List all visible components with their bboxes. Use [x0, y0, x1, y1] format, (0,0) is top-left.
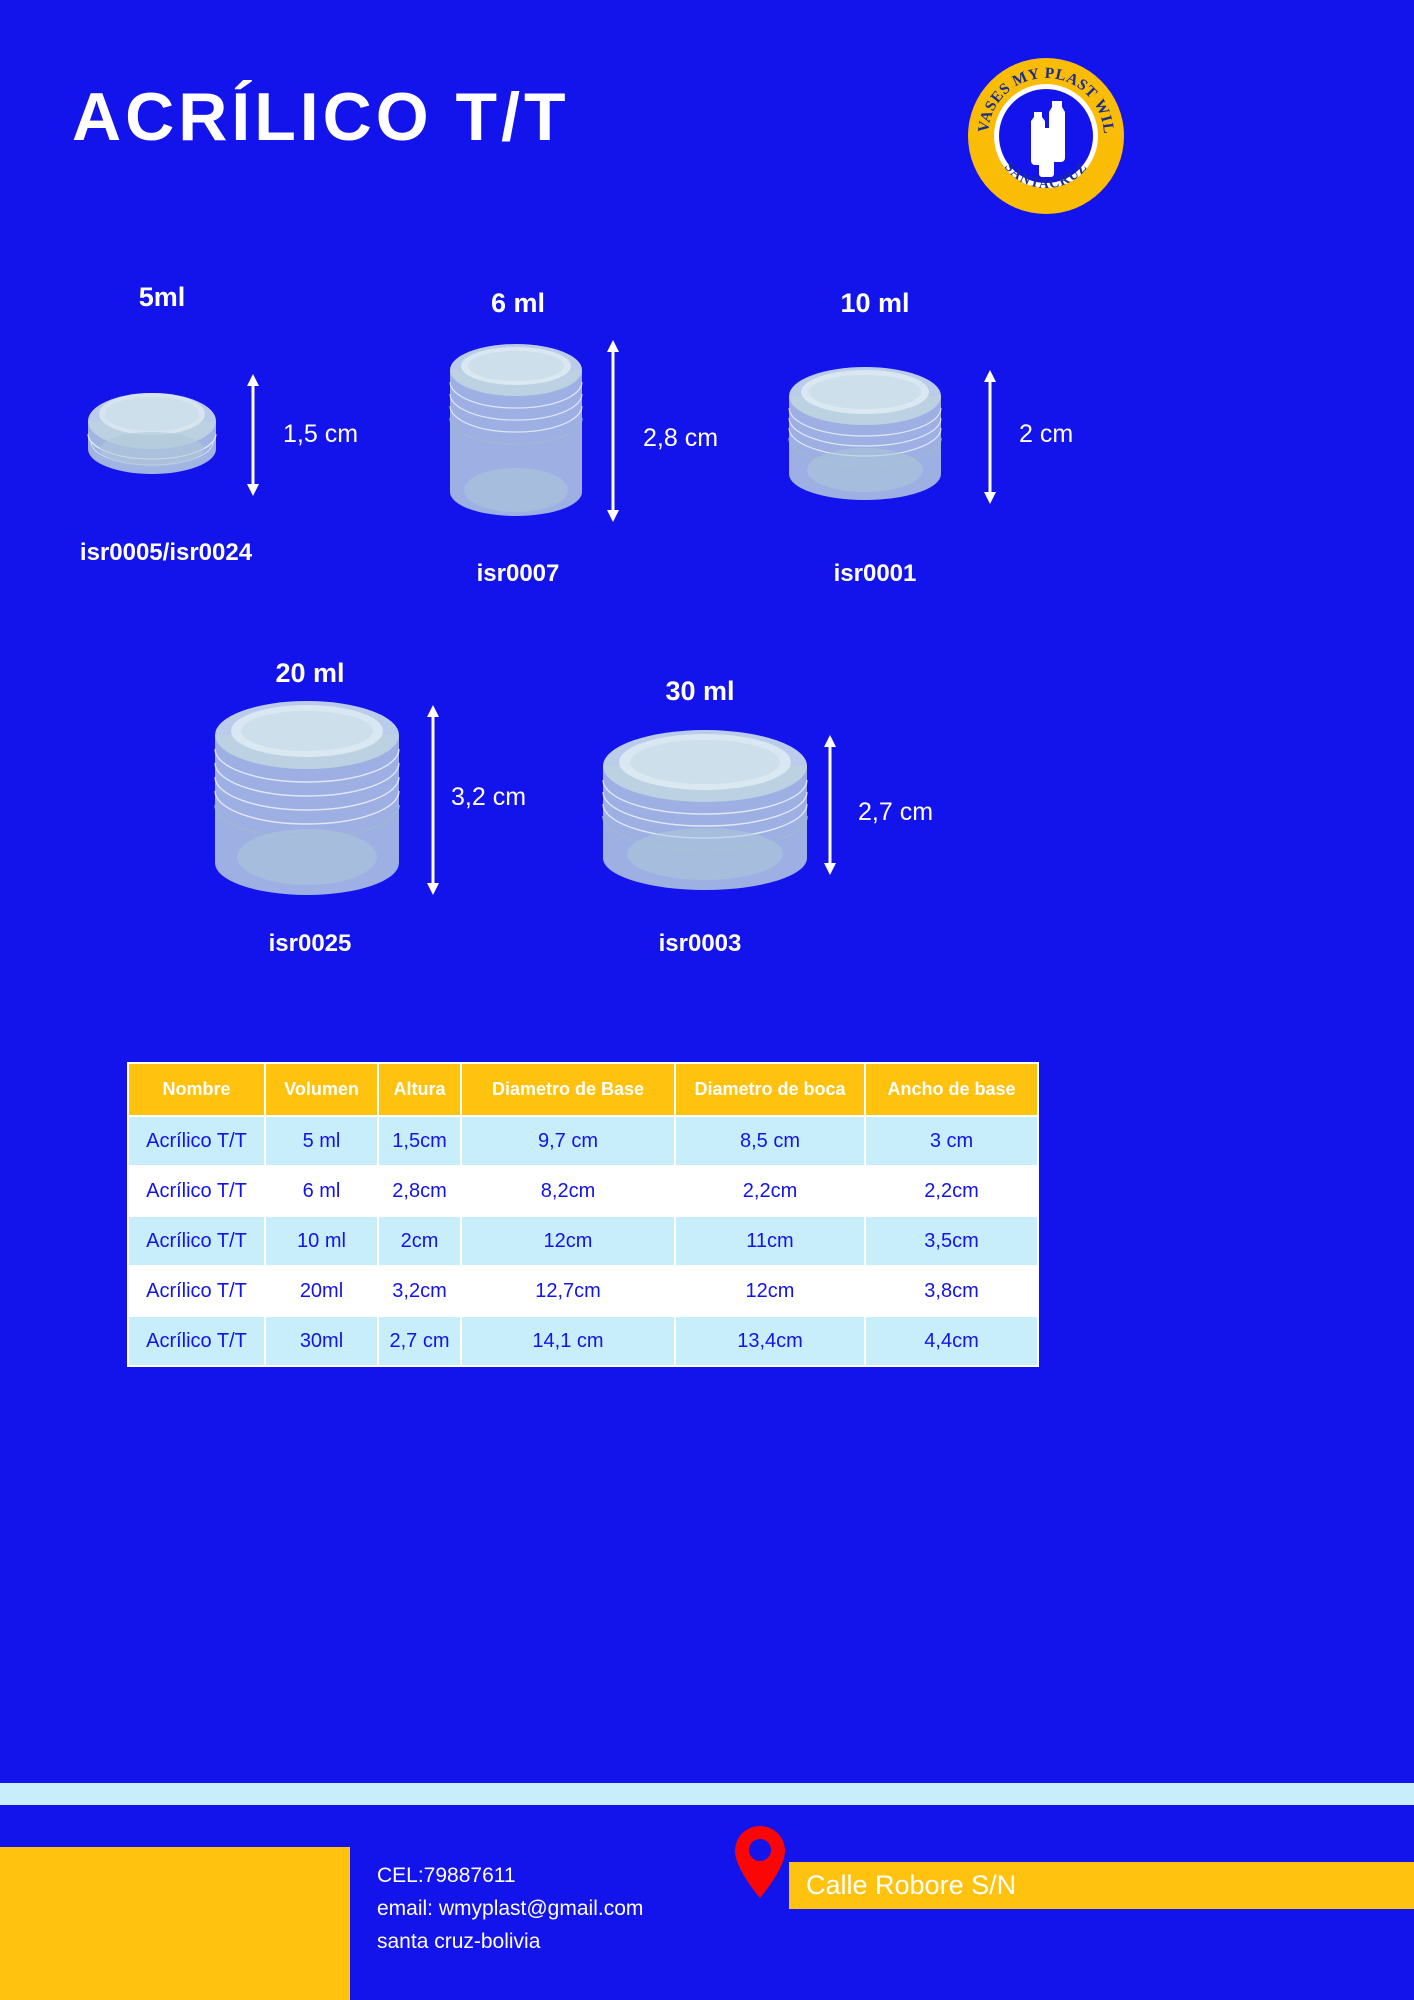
height-arrow-6ml — [605, 340, 621, 522]
product-height-label: 2 cm — [1019, 420, 1073, 449]
contact-email: email: wmyplast@gmail.com — [377, 1892, 643, 1925]
cell-ancho-base: 3 cm — [865, 1116, 1038, 1166]
cell-altura: 3,2cm — [378, 1266, 461, 1316]
height-arrow-30ml — [822, 735, 838, 875]
cell-ancho-base: 4,4cm — [865, 1316, 1038, 1366]
cell-nombre: Acrílico T/T — [128, 1216, 265, 1266]
cell-diametro-boca: 12cm — [675, 1266, 865, 1316]
contact-phone: CEL:79887611 — [377, 1859, 643, 1892]
table-row: Acrílico T/T 20ml 3,2cm 12,7cm 12cm 3,8c… — [128, 1266, 1038, 1316]
contact-location: santa cruz-bolivia — [377, 1925, 643, 1958]
table-header-volumen: Volumen — [265, 1063, 378, 1116]
table-row: Acrílico T/T 5 ml 1,5cm 9,7 cm 8,5 cm 3 … — [128, 1116, 1038, 1166]
product-volume-label: 10 ml — [795, 288, 955, 319]
cell-nombre: Acrílico T/T — [128, 1116, 265, 1166]
cell-nombre: Acrílico T/T — [128, 1266, 265, 1316]
company-logo-icon: ENVASES MY PLAST WILLY SANTACRUZ — [968, 58, 1124, 214]
height-arrow-20ml — [425, 705, 441, 895]
cell-altura: 2,8cm — [378, 1166, 461, 1216]
page-title: ACRÍLICO T/T — [72, 78, 570, 156]
jar-image-30ml — [598, 728, 813, 900]
product-height-label: 2,7 cm — [858, 798, 933, 827]
specification-table: Nombre Volumen Altura Diametro de Base D… — [127, 1062, 1039, 1367]
product-height-label: 1,5 cm — [283, 420, 358, 449]
cell-nombre: Acrílico T/T — [128, 1316, 265, 1366]
cell-diametro-base: 14,1 cm — [461, 1316, 675, 1366]
product-code-label: isr0025 — [230, 930, 390, 958]
contact-info: CEL:79887611 email: wmyplast@gmail.com s… — [377, 1859, 643, 1958]
cell-diametro-boca: 2,2cm — [675, 1166, 865, 1216]
cell-volumen: 10 ml — [265, 1216, 378, 1266]
cell-nombre: Acrílico T/T — [128, 1166, 265, 1216]
cell-ancho-base: 2,2cm — [865, 1166, 1038, 1216]
height-arrow-10ml — [982, 370, 998, 504]
cell-diametro-base: 9,7 cm — [461, 1116, 675, 1166]
product-volume-label: 6 ml — [438, 288, 598, 319]
product-height-label: 3,2 cm — [451, 783, 526, 812]
table-header-altura: Altura — [378, 1063, 461, 1116]
address-text: Calle Robore S/N — [806, 1870, 1016, 1901]
cell-altura: 2cm — [378, 1216, 461, 1266]
cell-volumen: 30ml — [265, 1316, 378, 1366]
jar-image-10ml — [785, 364, 945, 506]
cell-volumen: 20ml — [265, 1266, 378, 1316]
product-code-label: isr0005/isr0024 — [71, 539, 261, 567]
cell-altura: 2,7 cm — [378, 1316, 461, 1366]
cell-diametro-base: 8,2cm — [461, 1166, 675, 1216]
cell-volumen: 5 ml — [265, 1116, 378, 1166]
jar-image-6ml — [446, 340, 586, 522]
jar-image-5ml — [85, 374, 220, 496]
cell-volumen: 6 ml — [265, 1166, 378, 1216]
jar-image-20ml — [210, 695, 405, 900]
map-pin-icon — [733, 1824, 787, 1900]
table-row: Acrílico T/T 30ml 2,7 cm 14,1 cm 13,4cm … — [128, 1316, 1038, 1366]
cell-diametro-base: 12,7cm — [461, 1266, 675, 1316]
product-code-label: isr0003 — [620, 930, 780, 958]
cell-diametro-base: 12cm — [461, 1216, 675, 1266]
product-volume-label: 5ml — [82, 282, 242, 313]
height-arrow-5ml — [245, 374, 261, 496]
product-volume-label: 30 ml — [620, 676, 780, 707]
product-code-label: isr0001 — [795, 560, 955, 588]
cell-diametro-boca: 13,4cm — [675, 1316, 865, 1366]
product-height-label: 2,8 cm — [643, 424, 718, 453]
footer-accent-block — [0, 1847, 350, 2000]
product-code-label: isr0007 — [438, 560, 598, 588]
page-header: ACRÍLICO T/T ENVASES MY PLAST WILLY SANT… — [0, 0, 1414, 250]
table-header-diametro-base: Diametro de Base — [461, 1063, 675, 1116]
cell-diametro-boca: 11cm — [675, 1216, 865, 1266]
cell-altura: 1,5cm — [378, 1116, 461, 1166]
table-header-diametro-boca: Diametro de boca — [675, 1063, 865, 1116]
table-row: Acrílico T/T 10 ml 2cm 12cm 11cm 3,5cm — [128, 1216, 1038, 1266]
address-badge: Calle Robore S/N — [789, 1862, 1414, 1909]
product-volume-label: 20 ml — [230, 658, 390, 689]
table-header-nombre: Nombre — [128, 1063, 265, 1116]
table-header-row: Nombre Volumen Altura Diametro de Base D… — [128, 1063, 1038, 1116]
footer-divider-stripe — [0, 1783, 1414, 1805]
cell-ancho-base: 3,8cm — [865, 1266, 1038, 1316]
cell-diametro-boca: 8,5 cm — [675, 1116, 865, 1166]
cell-ancho-base: 3,5cm — [865, 1216, 1038, 1266]
table-header-ancho-base: Ancho de base — [865, 1063, 1038, 1116]
table-row: Acrílico T/T 6 ml 2,8cm 8,2cm 2,2cm 2,2c… — [128, 1166, 1038, 1216]
